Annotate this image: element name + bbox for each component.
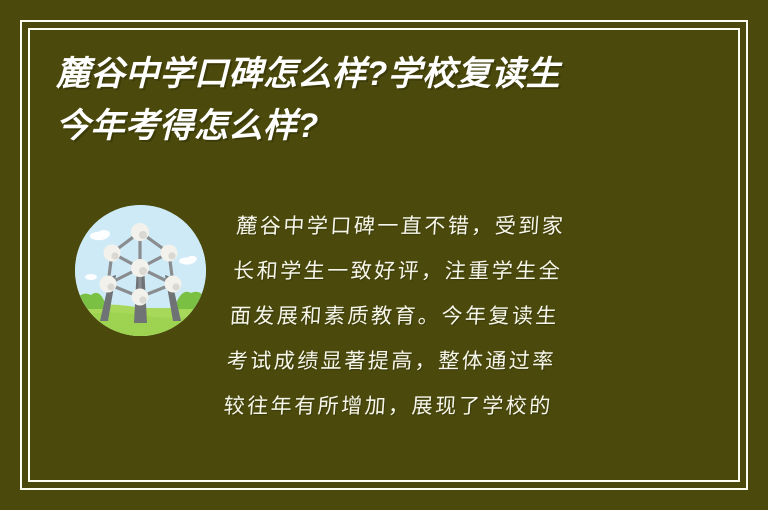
title-line-2: 今年考得怎么样? (56, 100, 696, 152)
content-row: 麓谷中学口碑一直不错，受到家 长和学生一致好评，注重学生全 面发展和素质教育。今… (0, 196, 768, 496)
atomium-illustration-icon (75, 205, 206, 336)
body-line: 长和学生一致好评，注重学生全 (232, 249, 655, 294)
illustration-container (75, 205, 206, 336)
poster-canvas: 麓谷中学口碑怎么样?学校复读生 今年考得怎么样? (0, 0, 768, 510)
title-line-1: 麓谷中学口碑怎么样?学校复读生 (56, 48, 696, 100)
page-title: 麓谷中学口碑怎么样?学校复读生 今年考得怎么样? (56, 48, 696, 152)
illustration-circle-mask (75, 205, 206, 336)
body-line: 麓谷中学口碑一直不错，受到家 (235, 204, 658, 249)
body-line: 面发展和素质教育。今年复读生 (228, 294, 651, 339)
article-body: 麓谷中学口碑一直不错，受到家 长和学生一致好评，注重学生全 面发展和素质教育。今… (222, 204, 658, 429)
body-line: 较往年有所增加，展现了学校的 (222, 384, 645, 429)
body-line: 考试成绩显著提高，整体通过率 (225, 339, 648, 384)
